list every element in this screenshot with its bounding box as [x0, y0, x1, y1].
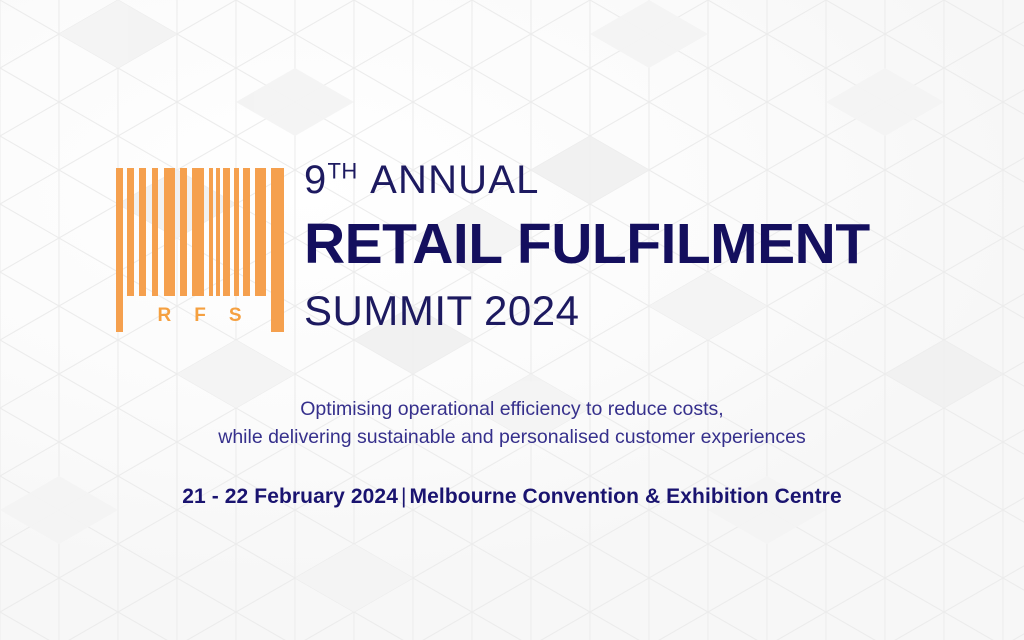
- rfs-letter-s: S: [229, 306, 243, 325]
- barcode-bar: [192, 168, 204, 296]
- barcode-bar: [152, 168, 158, 296]
- event-tagline: Optimising operational efficiency to red…: [0, 396, 1024, 451]
- page-title: RETAIL FULFILMENT: [304, 216, 944, 273]
- event-details: 21 - 22 February 2024|Melbourne Conventi…: [0, 485, 1024, 509]
- rfs-letter-f: F: [194, 306, 207, 325]
- tagline-line-1: Optimising operational efficiency to red…: [0, 396, 1024, 424]
- event-banner: R F S 9TH ANNUAL RETAIL FULFILMENT SUMMI…: [0, 0, 1024, 640]
- barcode-bar: [139, 168, 146, 296]
- edition-line: 9TH ANNUAL: [304, 160, 944, 200]
- barcode-bar: [180, 168, 187, 296]
- event-title-block: 9TH ANNUAL RETAIL FULFILMENT SUMMIT 2024: [304, 160, 944, 332]
- banner-content: R F S 9TH ANNUAL RETAIL FULFILMENT SUMMI…: [0, 0, 1024, 640]
- edition-ordinal: TH: [327, 159, 357, 184]
- rfs-letter-r: R: [157, 306, 172, 325]
- edition-number: 9: [304, 158, 327, 202]
- barcode-bar: [216, 168, 220, 296]
- edition-word: ANNUAL: [370, 158, 539, 202]
- barcode-bar: [127, 168, 134, 296]
- barcode-bar: [223, 168, 230, 296]
- details-separator: |: [398, 485, 410, 508]
- barcode-bar: [164, 168, 175, 296]
- event-type-year: SUMMIT 2024: [304, 290, 944, 332]
- barcode-bar: [209, 168, 213, 296]
- barcode-bar: [243, 168, 250, 296]
- barcode-bar: [234, 168, 239, 296]
- barcode-bar: [255, 168, 266, 296]
- barcode-bar: [271, 168, 284, 332]
- tagline-line-2: while delivering sustainable and persona…: [0, 424, 1024, 452]
- event-venue: Melbourne Convention & Exhibition Centre: [410, 485, 842, 508]
- event-dates: 21 - 22 February 2024: [182, 485, 398, 508]
- rfs-logo: R F S: [116, 168, 284, 332]
- barcode-icon: R F S: [116, 168, 284, 332]
- rfs-letters: R F S: [136, 300, 264, 330]
- barcode-bar: [116, 168, 123, 332]
